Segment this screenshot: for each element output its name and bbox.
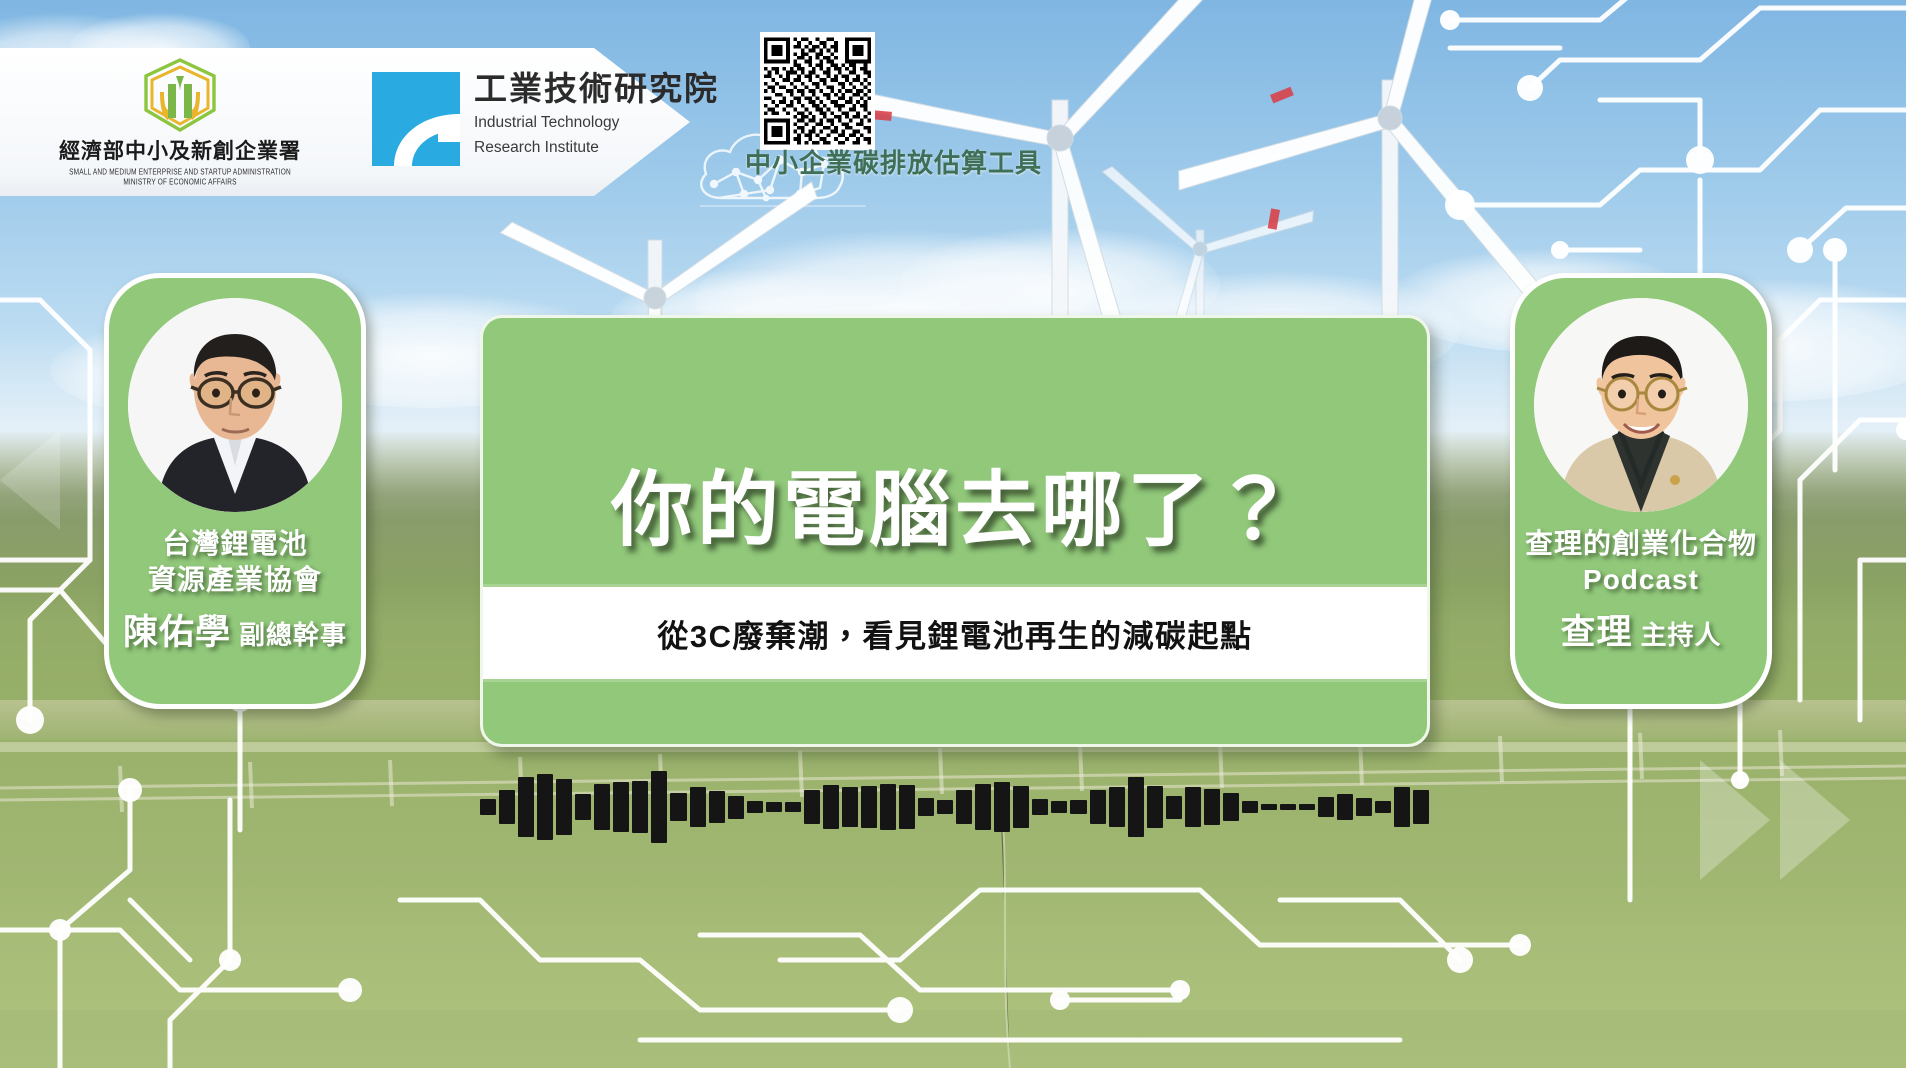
- itri-name-zh: 工業技術研究院: [474, 72, 719, 107]
- waveform-bar: [709, 791, 725, 823]
- waveform-bar: [937, 800, 953, 814]
- avatar: [128, 298, 342, 512]
- episode-cover: 經濟部中小及新創企業署 SMALL AND MEDIUM ENTERPRISE …: [0, 0, 1906, 1068]
- sme-name-en-1: SMALL AND MEDIUM ENTERPRISE AND STARTUP …: [69, 168, 291, 177]
- waveform-bar: [918, 798, 934, 816]
- waveform-bar: [1185, 787, 1201, 826]
- speaker-info-right: 查理的創業化合物 Podcast 查理主持人: [1515, 526, 1767, 655]
- waveform-bar: [1051, 801, 1067, 813]
- sme-name-zh: 經濟部中小及新創企業署: [59, 135, 301, 165]
- waveform-bar: [994, 782, 1010, 833]
- waveform-bar: [785, 802, 801, 811]
- waveform-bar: [861, 786, 877, 827]
- waveform-bar: [690, 787, 706, 826]
- waveform-bar: [651, 771, 667, 842]
- speaker-card-right: 查理的創業化合物 Podcast 查理主持人: [1510, 273, 1772, 709]
- speaker-name-text: 陳佑學: [123, 613, 231, 652]
- waveform-bar: [1013, 786, 1029, 827]
- waveform-bar: [1147, 786, 1163, 827]
- waveform-bar: [1375, 801, 1391, 813]
- episode-title: 你的電腦去哪了？: [611, 443, 1299, 562]
- waveform-bar: [556, 779, 572, 834]
- waveform-bar: [823, 785, 839, 829]
- speaker-org-line2: 資源產業協會: [115, 562, 355, 598]
- waveform-bar: [728, 796, 744, 819]
- field-band-lower: [0, 880, 1906, 1010]
- speaker-name-right: 查理主持人: [1521, 604, 1761, 655]
- waveform-bar: [880, 784, 896, 830]
- waveform-bar: [1261, 804, 1277, 811]
- waveform-bar: [899, 785, 915, 829]
- avatar: [1534, 298, 1748, 512]
- speaker-role-text: 主持人: [1641, 620, 1722, 650]
- waveform-bar: [1032, 799, 1048, 815]
- waveform-bar: [804, 790, 820, 825]
- waveform-bar: [1204, 789, 1220, 826]
- waveform-bar: [1166, 796, 1182, 819]
- waveform-bar: [975, 784, 991, 830]
- waveform-bar: [1090, 790, 1106, 825]
- waveform-bar: [1280, 804, 1296, 811]
- waveform-bar: [670, 793, 686, 821]
- speaker-photo-charlie: [1534, 298, 1748, 512]
- speaker-org-line2: Podcast: [1521, 562, 1761, 598]
- waveform-bar: [632, 781, 648, 834]
- waveform-bar: [537, 774, 553, 841]
- waveform-bar: [842, 787, 858, 826]
- itri-name-en-2: Research Institute: [474, 138, 719, 157]
- audio-waveform-icon: [480, 770, 1430, 844]
- speaker-info-left: 台灣鋰電池 資源產業協會 陳佑學副總幹事: [109, 526, 361, 655]
- waveform-bar: [480, 799, 496, 815]
- waveform-bar: [499, 790, 515, 825]
- sme-seedling-icon: [138, 58, 222, 134]
- waveform-bar: [956, 790, 972, 825]
- speaker-org-line1: 台灣鋰電池: [115, 526, 355, 562]
- waveform-bar: [613, 782, 629, 833]
- episode-subtitle: 從3C廢棄潮，看見鋰電池再生的減碳起點: [657, 611, 1252, 656]
- waveform-bar: [766, 802, 782, 811]
- title-card: 你的電腦去哪了？ 從3C廢棄潮，看見鋰電池再生的減碳起點: [480, 315, 1430, 747]
- waveform-bar: [1109, 787, 1125, 826]
- title-card-footer: [483, 682, 1427, 744]
- waveform-bar: [594, 784, 610, 830]
- waveform-bar: [575, 794, 591, 819]
- waveform-bar: [1070, 800, 1086, 814]
- waveform-bar: [1128, 777, 1144, 837]
- waveform-bar: [1318, 797, 1334, 818]
- waveform-bar: [1356, 798, 1372, 816]
- itri-logo: 工業技術研究院 Industrial Technology Research I…: [372, 72, 719, 166]
- episode-subtitle-bar: 從3C廢棄潮，看見鋰電池再生的減碳起點: [483, 584, 1427, 682]
- qr-code-icon[interactable]: [760, 32, 875, 150]
- speaker-photo-chen: [128, 298, 342, 512]
- waveform-bar: [1337, 794, 1353, 819]
- itri-mark-icon: [372, 72, 460, 166]
- speaker-name-text: 查理: [1560, 613, 1632, 652]
- qr-matrix: [764, 36, 871, 146]
- waveform-bar: [1394, 787, 1410, 826]
- speaker-org-line1: 查理的創業化合物: [1521, 526, 1761, 562]
- speaker-name-left: 陳佑學副總幹事: [115, 604, 355, 655]
- sme-name-en-2: MINISTRY OF ECONOMIC AFFAIRS: [123, 178, 236, 187]
- waveform-bar: [1413, 790, 1429, 825]
- qr-label: 中小企業碳排放估算工具: [745, 143, 1075, 180]
- waveform-bar: [518, 777, 534, 837]
- waveform-bar: [1223, 793, 1239, 821]
- sme-logo: 經濟部中小及新創企業署 SMALL AND MEDIUM ENTERPRISE …: [75, 58, 285, 186]
- waveform-bar: [1242, 801, 1258, 813]
- episode-title-area: 你的電腦去哪了？: [483, 318, 1427, 584]
- waveform-bar: [747, 801, 763, 813]
- waveform-bar: [1299, 804, 1315, 811]
- itri-name-en-1: Industrial Technology: [474, 113, 719, 132]
- speaker-card-left: 台灣鋰電池 資源產業協會 陳佑學副總幹事: [104, 273, 366, 709]
- speaker-role-text: 副總幹事: [239, 620, 347, 650]
